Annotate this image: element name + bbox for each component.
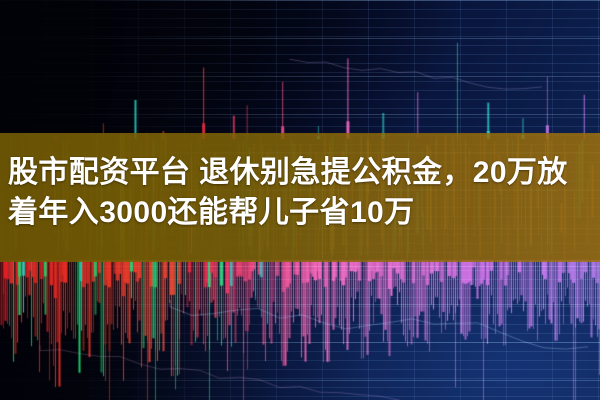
headline-text: 股市配资平台 退休别急提公积金，20万放着年入3000还能帮儿子省10万 [0,153,600,248]
banner-image: 股市配资平台 退休别急提公积金，20万放着年入3000还能帮儿子省10万 [0,0,600,400]
